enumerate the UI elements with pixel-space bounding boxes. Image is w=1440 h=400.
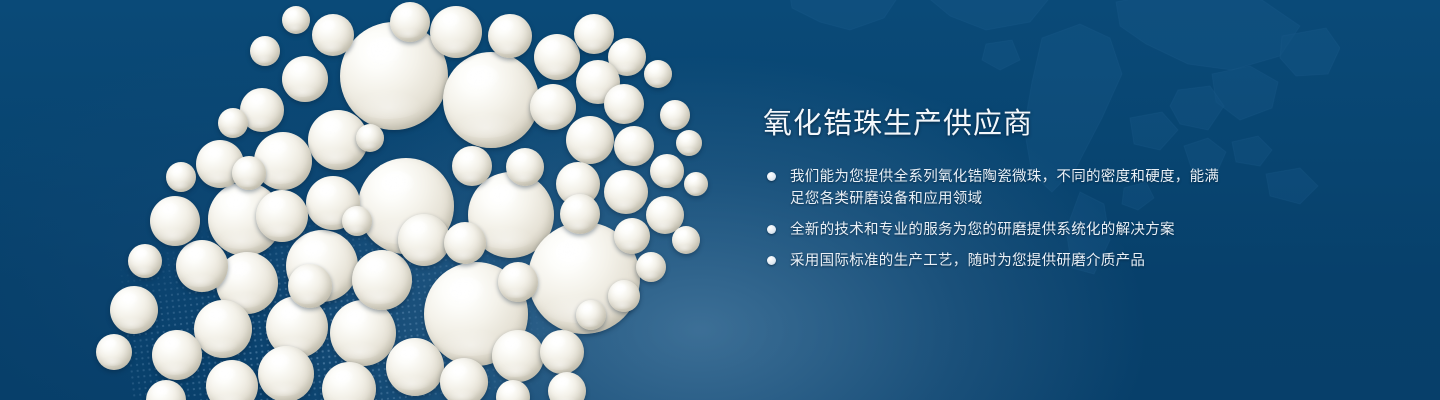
bullet-dot-icon	[767, 225, 776, 234]
bullet-dot-icon	[767, 256, 776, 265]
list-item: 采用国际标准的生产工艺，随时为您提供研磨介质产品	[763, 250, 1233, 272]
list-item-label: 全新的技术和专业的服务为您的研磨提供系统化的解决方案	[790, 222, 1175, 238]
list-item: 全新的技术和专业的服务为您的研磨提供系统化的解决方案	[763, 219, 1233, 241]
hero-banner: 氧化锆珠生产供应商 我们能为您提供全系列氧化锆陶瓷微珠，不同的密度和硬度，能满足…	[0, 0, 1440, 400]
list-item-label: 我们能为您提供全系列氧化锆陶瓷微珠，不同的密度和硬度，能满足您各类研磨设备和应用…	[790, 169, 1219, 207]
feature-list: 我们能为您提供全系列氧化锆陶瓷微珠，不同的密度和硬度，能满足您各类研磨设备和应用…	[763, 166, 1233, 272]
bullet-dot-icon	[767, 172, 776, 181]
halftone-texture	[108, 124, 651, 400]
banner-copy: 氧化锆珠生产供应商 我们能为您提供全系列氧化锆陶瓷微珠，不同的密度和硬度，能满足…	[763, 104, 1233, 281]
zirconia-beads-image	[0, 0, 760, 400]
list-item-label: 采用国际标准的生产工艺，随时为您提供研磨介质产品	[790, 253, 1145, 269]
list-item: 我们能为您提供全系列氧化锆陶瓷微珠，不同的密度和硬度，能满足您各类研磨设备和应用…	[763, 166, 1233, 210]
page-title: 氧化锆珠生产供应商	[763, 104, 1233, 144]
